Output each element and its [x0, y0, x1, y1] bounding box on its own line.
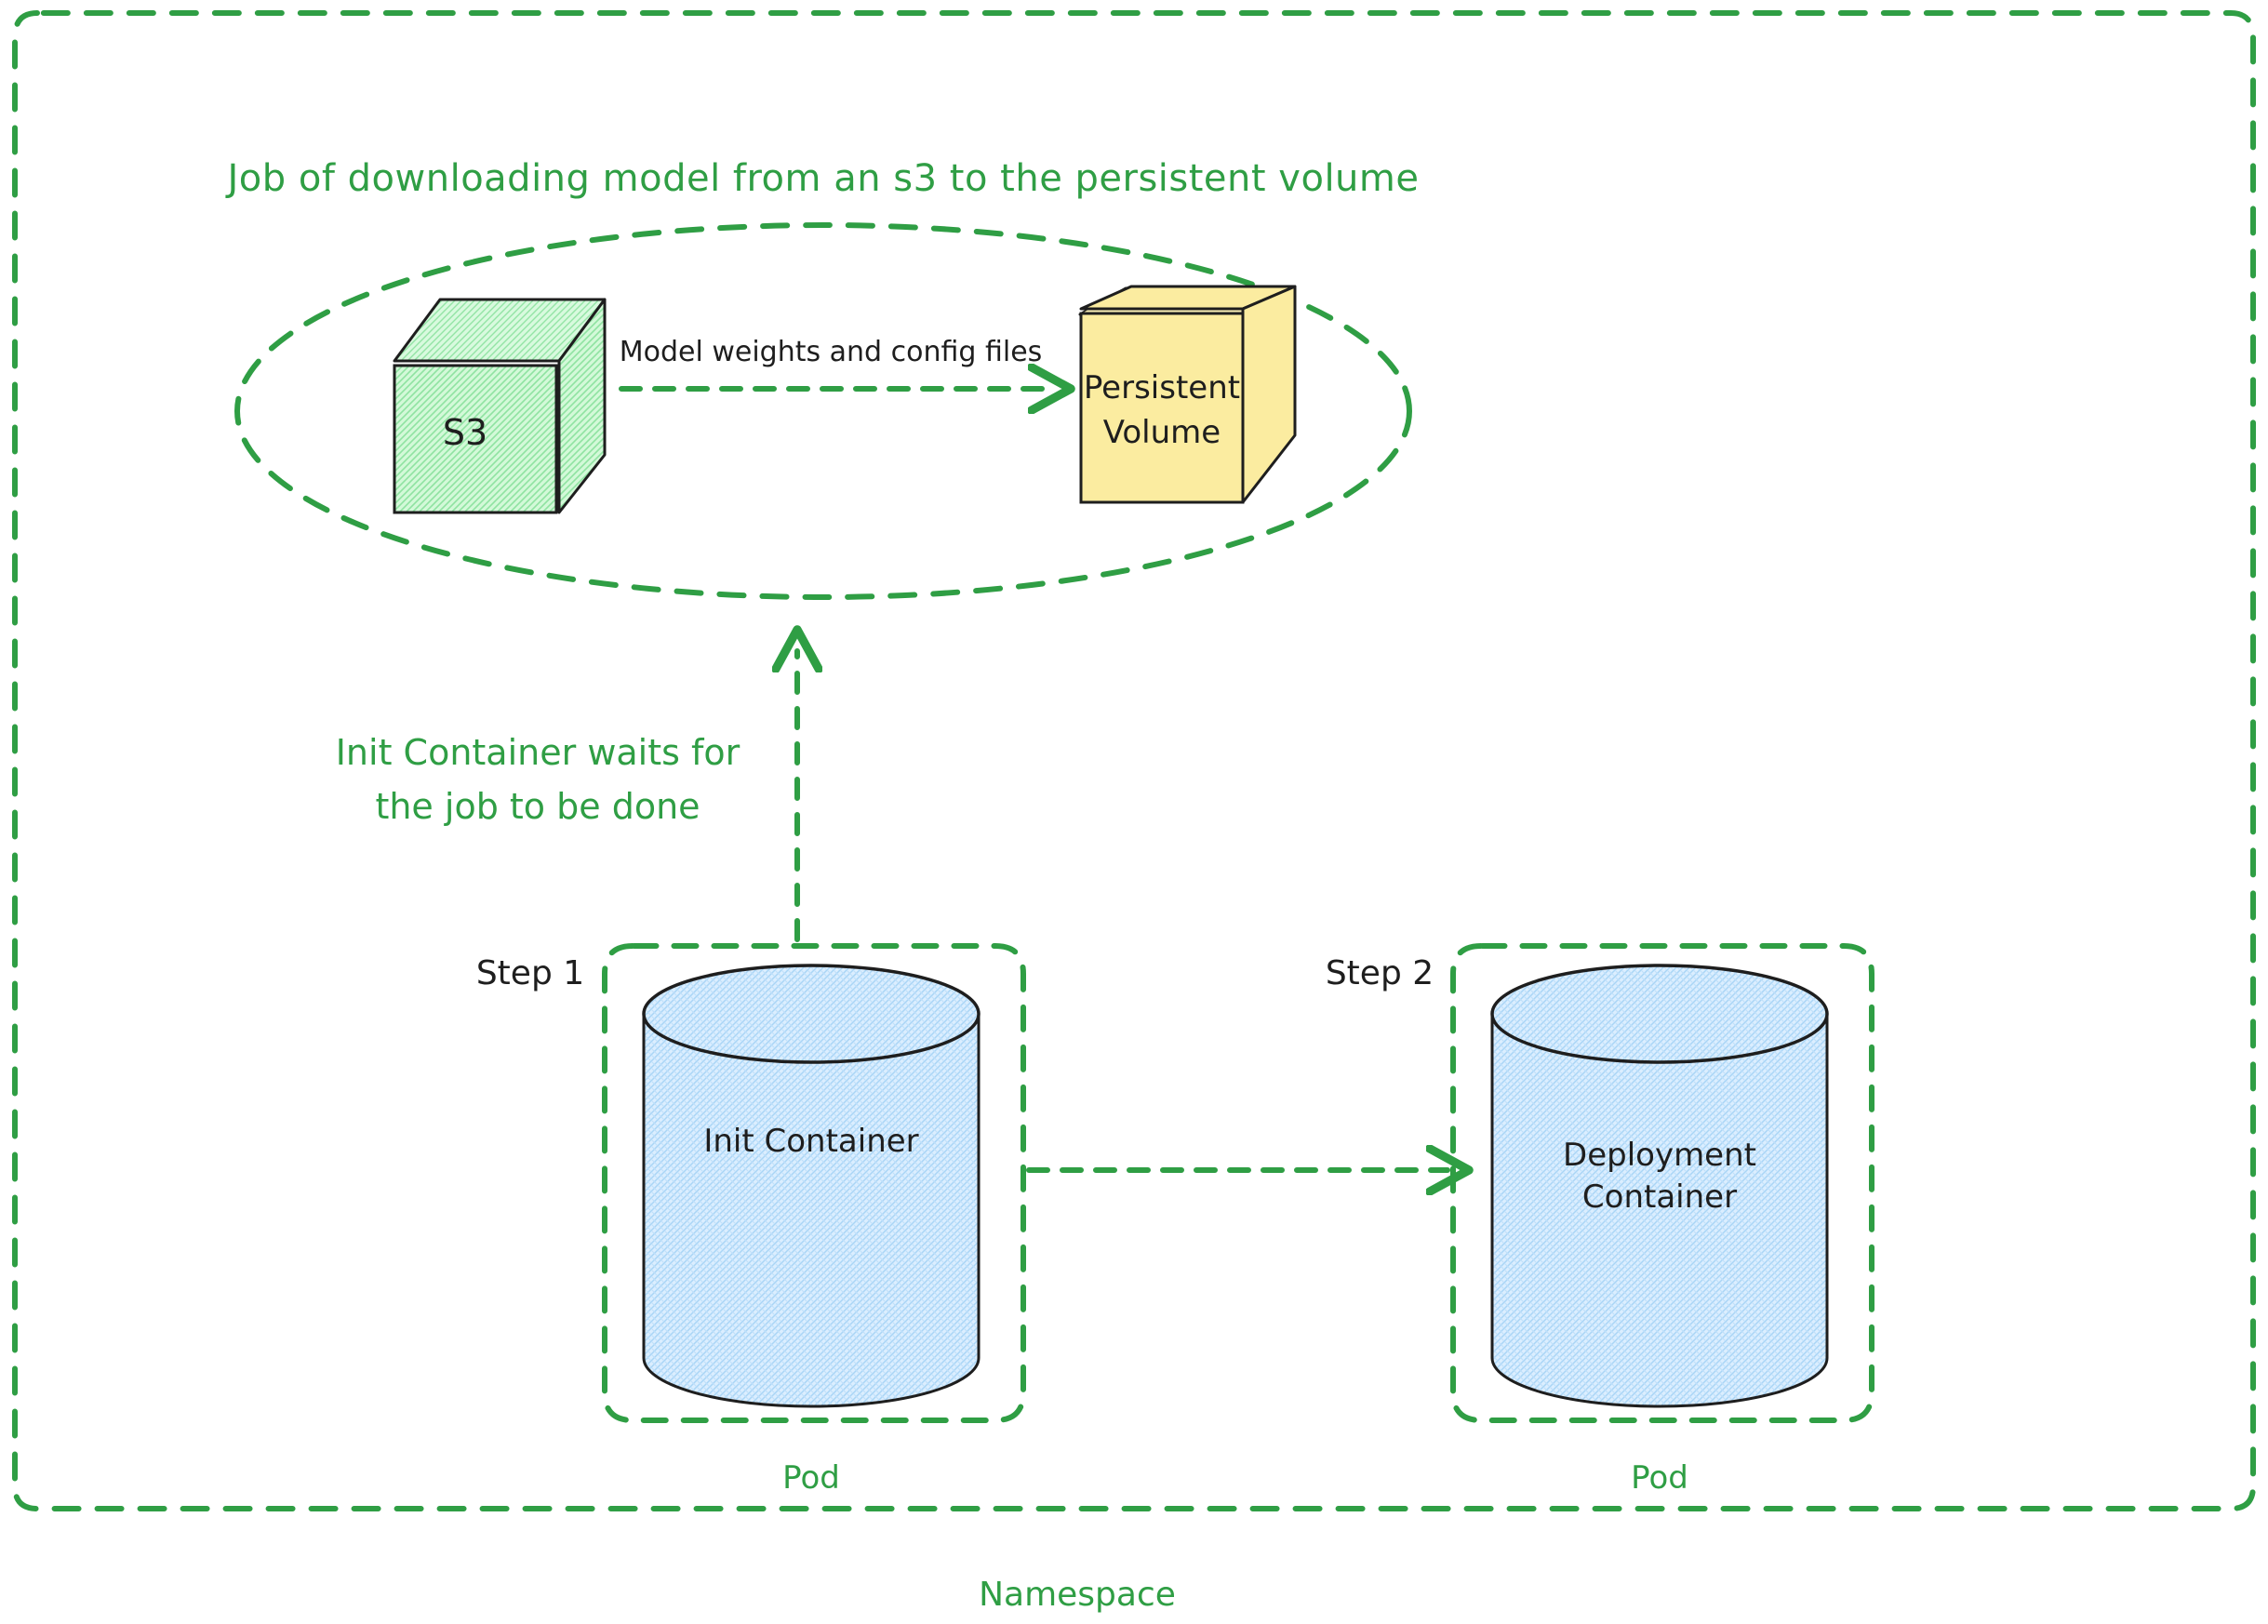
namespace-label: Namespace	[979, 1576, 1176, 1614]
pod2-label: Pod	[1631, 1459, 1688, 1497]
edge-label-model-weights: Model weights and config files	[620, 336, 1043, 368]
edge-label-init-waits-line1: Init Container waits for	[336, 732, 740, 773]
s3-label: S3	[443, 412, 487, 453]
job-group-title: Job of downloading model from an s3 to t…	[225, 157, 1420, 200]
diagram-svg: Job of downloading model from an s3 to t…	[0, 0, 2268, 1624]
s3-cube	[394, 300, 605, 512]
deployment-container-label-line2: Container	[1582, 1178, 1737, 1216]
diagram-canvas: Job of downloading model from an s3 to t…	[0, 0, 2268, 1624]
init-container-cylinder	[644, 965, 979, 1406]
deployment-container-label-line1: Deployment	[1563, 1137, 1756, 1174]
pod2-step-label: Step 2	[1326, 954, 1434, 992]
pod1-step-label: Step 1	[476, 954, 584, 992]
persistent-volume-label-line2: Volume	[1103, 414, 1221, 451]
init-container-label: Init Container	[703, 1123, 918, 1160]
edge-label-init-waits-line2: the job to be done	[375, 786, 700, 827]
pod1-label: Pod	[782, 1459, 840, 1497]
persistent-volume-label-line1: Persistent	[1084, 369, 1240, 406]
